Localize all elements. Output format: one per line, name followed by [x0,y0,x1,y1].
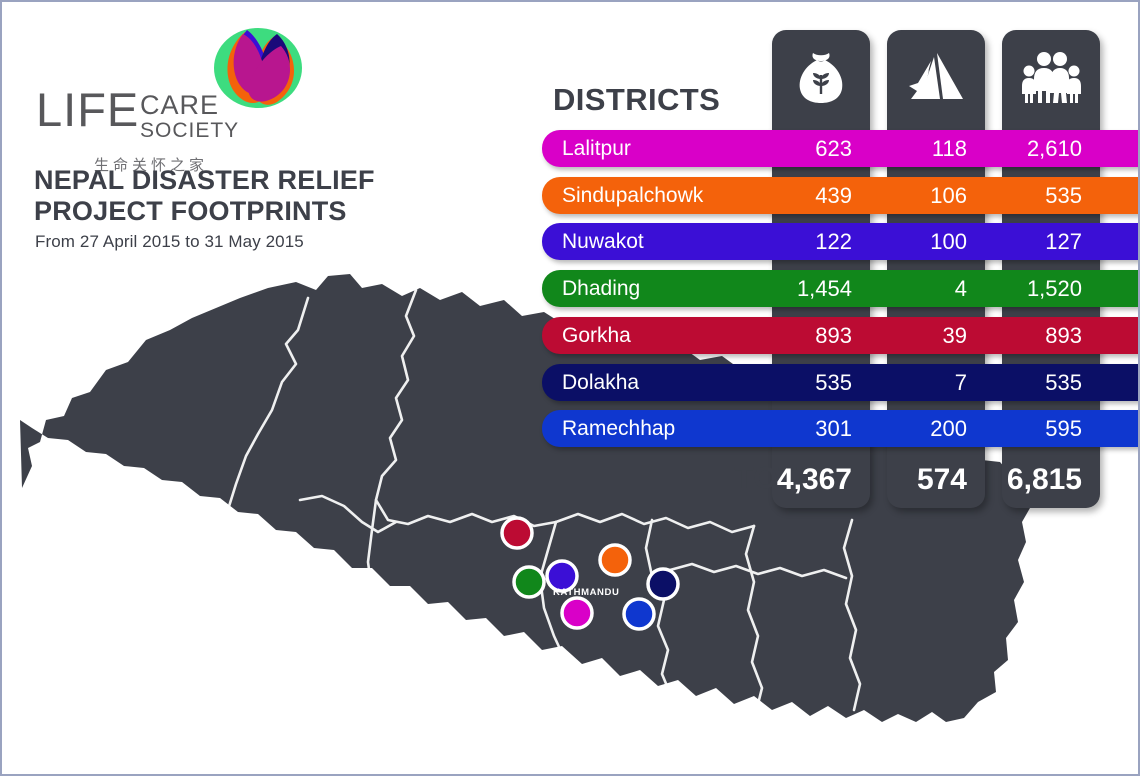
table-row: Nuwakot122100127 [542,223,1140,260]
district-name: Ramechhap [562,410,675,447]
district-name: Sindupalchowk [562,177,703,214]
infographic-canvas: LIFE CARE SOCIETY 生命关怀之家 NEPAL DISASTER … [0,0,1140,776]
district-name: Gorkha [562,317,631,354]
district-name: Nuwakot [562,223,644,260]
cell-tent: 118 [889,130,967,167]
cell-food: 301 [774,410,852,447]
table-row: Gorkha89339893 [542,317,1140,354]
table-row: Sindupalchowk439106535 [542,177,1140,214]
tent-icon [887,42,985,112]
cell-tent: 39 [889,317,967,354]
district-name: Lalitpur [562,130,631,167]
svg-text:SOCIETY: SOCIETY [140,119,239,142]
district-name: Dhading [562,270,640,307]
cell-food: 535 [774,364,852,401]
svg-text:CARE: CARE [140,90,219,120]
cell-tent: 7 [889,364,967,401]
table-row: Dolakha5357535 [542,364,1140,401]
cell-food: 122 [774,223,852,260]
map-marker-sindupalchowk [600,545,630,575]
table-row: Ramechhap301200595 [542,410,1140,447]
cell-people: 535 [1004,364,1082,401]
map-marker-gorkha [502,518,532,548]
cell-people: 127 [1004,223,1082,260]
table-row: Dhading1,45441,520 [542,270,1140,307]
svg-text:LIFE: LIFE [36,86,139,136]
map-marker-lalitpur [562,598,592,628]
cell-people: 2,610 [1004,130,1082,167]
map-city-label-kathmandu: KATHMANDU [553,587,619,598]
map-marker-dolakha [648,569,678,599]
cell-tent: 106 [889,177,967,214]
cell-tent: 100 [889,223,967,260]
logo-wordmark: LIFE CARE SOCIETY [36,86,296,150]
food-bag-icon [772,42,870,112]
page-title: NEPAL DISASTER RELIEF PROJECT FOOTPRINTS [34,165,474,226]
map-marker-dhading [514,567,544,597]
cell-food: 439 [774,177,852,214]
total-value-people: 6,815 [1004,460,1082,500]
cell-tent: 200 [889,410,967,447]
cell-people: 893 [1004,317,1082,354]
statistics-table: DISTRICTS Lalitpur6231182,610Sindupalcho… [542,16,1140,506]
map-marker-ramechhap [624,599,654,629]
cell-people: 535 [1004,177,1082,214]
map-markers [502,518,678,629]
cell-food: 1,454 [774,270,852,307]
cell-people: 595 [1004,410,1082,447]
total-value-tent: 574 [889,460,967,500]
cell-tent: 4 [889,270,967,307]
family-people-icon [1002,42,1100,112]
district-name: Dolakha [562,364,639,401]
date-range-subtitle: From 27 April 2015 to 31 May 2015 [35,232,304,252]
cell-people: 1,520 [1004,270,1082,307]
districts-column-header: DISTRICTS [553,82,720,118]
table-row: Lalitpur6231182,610 [542,130,1140,167]
cell-food: 623 [774,130,852,167]
total-value-food: 4,367 [774,460,852,500]
cell-food: 893 [774,317,852,354]
